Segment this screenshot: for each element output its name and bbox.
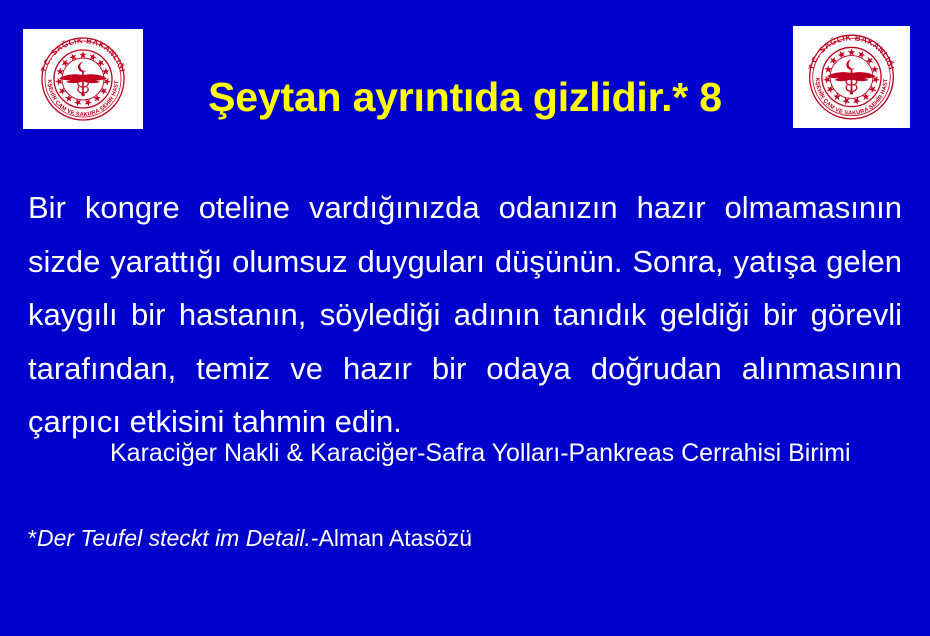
footnote-attribution: -Alman Atasözü <box>311 525 472 551</box>
slide-title: Şeytan ayrıntıda gizlidir.* 8 <box>0 75 930 119</box>
footnote-german-phrase: Der Teufel steckt im Detail. <box>37 525 311 551</box>
slide-canvas: T.C. SAĞLIK BAKANLIĞI BAŞAKŞEHİR ÇAM VE … <box>0 0 930 636</box>
footnote: *Der Teufel steckt im Detail.-Alman Atas… <box>28 524 472 552</box>
footnote-asterisk: * <box>28 525 37 551</box>
slide-body-paragraph: Bir kongre oteline vardığınızda odanızın… <box>28 181 902 449</box>
unit-credit-line: Karaciğer Nakli & Karaciğer-Safra Yollar… <box>110 438 910 468</box>
